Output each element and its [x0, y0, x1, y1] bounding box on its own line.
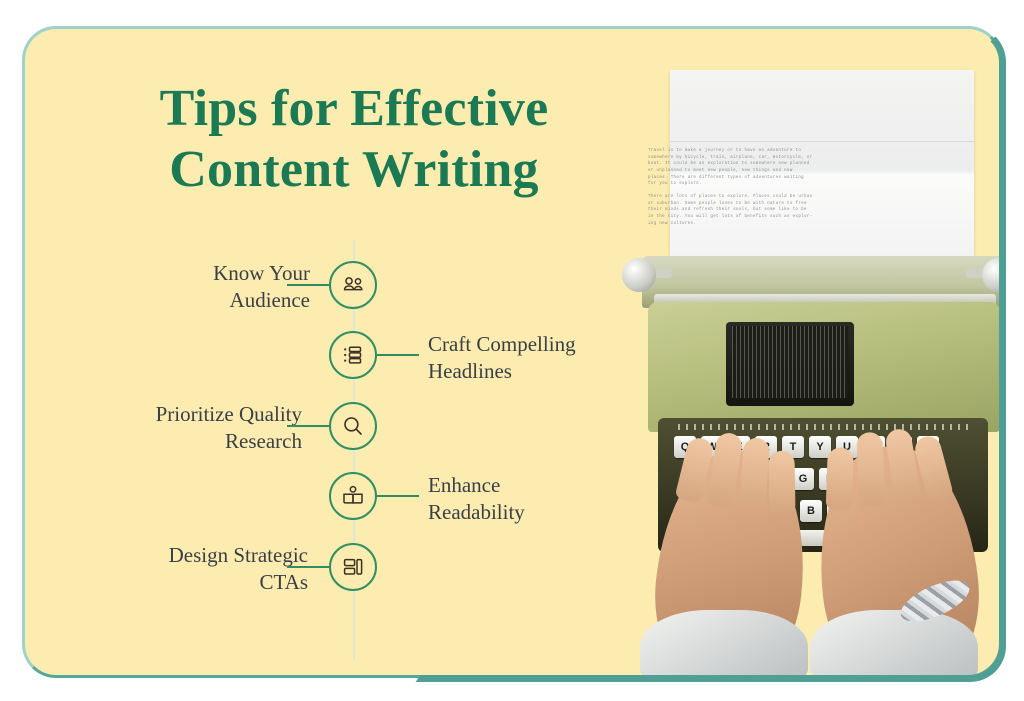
- person-reading-book-icon: [340, 483, 366, 509]
- timeline-node-enhance-readability[interactable]: [329, 472, 377, 520]
- label-line-1: Know Your: [80, 260, 310, 287]
- keyboard-top-bar: [678, 424, 968, 430]
- users-icon: [340, 272, 366, 298]
- label-line-1: Design Strategic: [78, 542, 308, 569]
- typed-paragraph-1: Travel is to make a journey or to have a…: [648, 148, 1002, 188]
- connector-line-5: [287, 566, 331, 568]
- connector-line-4: [375, 495, 419, 497]
- label-line-2: CTAs: [78, 569, 308, 596]
- timeline-label-prioritize-quality-research: Prioritize Quality Research: [72, 401, 302, 455]
- finger: [768, 451, 795, 513]
- magnifier-icon: [340, 413, 366, 439]
- timeline-node-design-strategic-ctas[interactable]: [329, 543, 377, 591]
- layout-blocks-icon: [340, 554, 366, 580]
- typed-paragraph-2: There are lots of places to explore. Pla…: [648, 194, 1002, 227]
- label-line-2: Audience: [80, 287, 310, 314]
- timeline-node-prioritize-quality-research[interactable]: [329, 402, 377, 450]
- right-sleeve: [810, 610, 978, 678]
- timeline-label-design-strategic-ctas: Design Strategic CTAs: [78, 542, 308, 596]
- left-platen-knob: [622, 258, 656, 292]
- timeline-node-craft-compelling-headlines[interactable]: [329, 331, 377, 379]
- connector-line-2: [375, 354, 419, 356]
- key[interactable]: B: [800, 500, 822, 522]
- paper-fold-line: [670, 141, 974, 142]
- label-line-1: Prioritize Quality: [72, 401, 302, 428]
- timeline-node-know-your-audience[interactable]: [329, 261, 377, 309]
- finger: [826, 447, 854, 510]
- list-bullets-icon: [340, 342, 366, 368]
- infographic-card: Tips for Effective Content Writing Know …: [22, 26, 1002, 678]
- key[interactable]: G: [792, 468, 814, 490]
- finger: [856, 432, 886, 507]
- connector-line-1: [287, 284, 331, 286]
- timeline-label-know-your-audience: Know Your Audience: [80, 260, 310, 314]
- title-line-1: Tips for Effective: [94, 78, 614, 139]
- typebars: [732, 326, 848, 398]
- typewriter-photo: Travel is to make a journey or to have a…: [614, 26, 1002, 678]
- page-title: Tips for Effective Content Writing: [94, 78, 614, 201]
- left-sleeve: [640, 610, 808, 678]
- label-line-2: Research: [72, 428, 302, 455]
- title-line-2: Content Writing: [94, 139, 614, 200]
- connector-line-3: [287, 425, 331, 427]
- finger: [739, 437, 770, 511]
